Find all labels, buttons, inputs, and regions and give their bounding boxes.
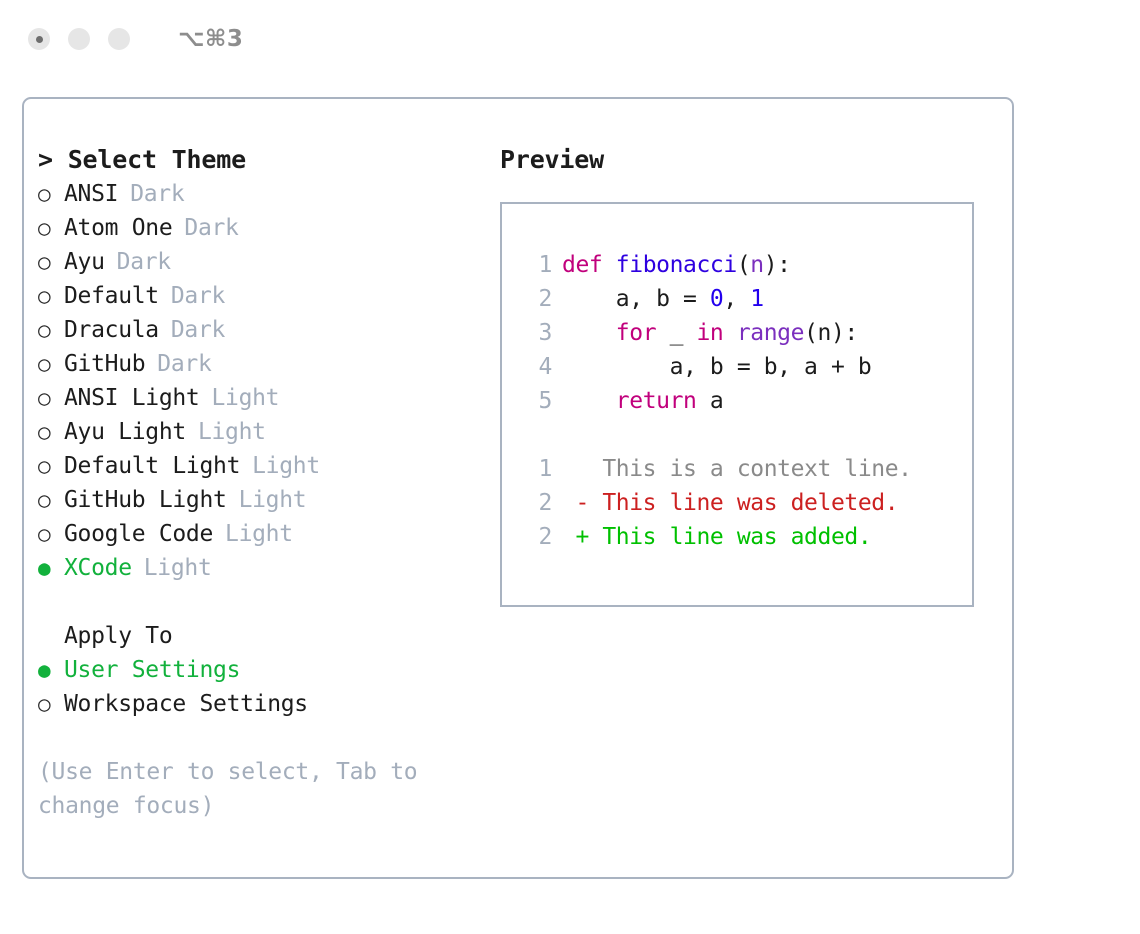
code-line: 4 a, b = b, a + b <box>518 350 972 384</box>
radio-unselected-icon: ○ <box>38 687 64 721</box>
code-token-plain <box>562 320 616 346</box>
code-token-plain: a, b = <box>562 286 710 312</box>
diff-line: 2 + This line was added. <box>518 520 972 554</box>
code-line-number: 4 <box>518 350 552 384</box>
theme-option-label: Ayu Light <box>64 415 186 449</box>
theme-option-kind: Dark <box>117 245 171 279</box>
window-dot-second-icon[interactable] <box>68 28 90 50</box>
theme-option-label: GitHub <box>64 347 145 381</box>
theme-option-kind: Light <box>144 551 212 585</box>
apply-to-list[interactable]: ●User Settings○Workspace Settings <box>38 653 488 721</box>
theme-option-label: ANSI Light <box>64 381 199 415</box>
preview-box: 1def fibonacci(n):2 a, b = 0, 13 for _ i… <box>500 202 974 607</box>
theme-list[interactable]: ○ANSIDark○Atom OneDark○AyuDark○DefaultDa… <box>38 177 488 585</box>
radio-unselected-icon: ○ <box>38 279 64 313</box>
theme-option-github[interactable]: ○GitHubDark <box>38 347 488 381</box>
theme-option-kind: Dark <box>157 347 211 381</box>
apply-to-title: Apply To <box>38 619 488 653</box>
radio-unselected-icon: ○ <box>38 483 64 517</box>
radio-unselected-icon: ○ <box>38 449 64 483</box>
window-dot-third-icon[interactable] <box>108 28 130 50</box>
radio-unselected-icon: ○ <box>38 177 64 211</box>
diff-line-number: 1 <box>518 452 552 486</box>
theme-picker-window: ⌥⌘3 > Select Theme ○ANSIDark○Atom OneDar… <box>0 0 1140 934</box>
code-token-plain: a, b = b, a + b <box>562 354 871 380</box>
keyboard-shortcut-label: ⌥⌘3 <box>178 26 243 52</box>
theme-option-ansi-light[interactable]: ○ANSI LightLight <box>38 381 488 415</box>
code-line-number: 2 <box>518 282 552 316</box>
diff-sample: 1 This is a context line.2 - This line w… <box>518 452 972 554</box>
theme-option-kind: Light <box>225 517 293 551</box>
theme-option-label: XCode <box>64 551 132 585</box>
diff-line-text: + This line was added. <box>562 520 871 554</box>
theme-option-label: Dracula <box>64 313 159 347</box>
code-token-plain: ): <box>764 252 791 278</box>
theme-selection-column: > Select Theme ○ANSIDark○Atom OneDark○Ay… <box>38 143 488 823</box>
select-theme-header: > Select Theme <box>38 143 488 177</box>
theme-option-google-code[interactable]: ○Google CodeLight <box>38 517 488 551</box>
radio-unselected-icon: ○ <box>38 381 64 415</box>
code-sample: 1def fibonacci(n):2 a, b = 0, 13 for _ i… <box>518 248 972 418</box>
code-token-kw: in <box>696 320 723 346</box>
theme-option-label: GitHub Light <box>64 483 227 517</box>
theme-option-label: Ayu <box>64 245 105 279</box>
diff-line: 2 - This line was deleted. <box>518 486 972 520</box>
theme-option-kind: Light <box>252 449 320 483</box>
code-token-var: n <box>750 252 763 278</box>
radio-unselected-icon: ○ <box>38 211 64 245</box>
radio-unselected-icon: ○ <box>38 245 64 279</box>
code-line-number: 1 <box>518 248 552 282</box>
theme-option-default[interactable]: ○DefaultDark <box>38 279 488 313</box>
code-token-plain: _ <box>656 320 696 346</box>
diff-line-number: 2 <box>518 520 552 554</box>
radio-selected-icon: ● <box>38 653 64 687</box>
apply-to-option-workspace-settings[interactable]: ○Workspace Settings <box>38 687 488 721</box>
code-line-number: 5 <box>518 384 552 418</box>
diff-line: 1 This is a context line. <box>518 452 972 486</box>
code-line-text: a, b = 0, 1 <box>562 282 764 316</box>
radio-selected-icon: ● <box>38 551 64 585</box>
code-token-num: 0 <box>710 286 723 312</box>
theme-option-ansi[interactable]: ○ANSIDark <box>38 177 488 211</box>
code-token-plain <box>723 320 736 346</box>
theme-option-label: ANSI <box>64 177 118 211</box>
window-controls <box>28 28 130 50</box>
code-token-kw: def <box>562 252 616 278</box>
theme-option-xcode[interactable]: ●XCodeLight <box>38 551 488 585</box>
theme-option-kind: Dark <box>184 211 238 245</box>
theme-option-label: Default <box>64 279 159 313</box>
code-line-text: a, b = b, a + b <box>562 350 871 384</box>
radio-unselected-icon: ○ <box>38 313 64 347</box>
code-line-text: for _ in range(n): <box>562 316 858 350</box>
code-token-kw: return <box>616 388 697 414</box>
theme-option-kind: Light <box>239 483 307 517</box>
theme-option-label: Google Code <box>64 517 213 551</box>
code-line: 5 return a <box>518 384 972 418</box>
theme-option-dracula[interactable]: ○DraculaDark <box>38 313 488 347</box>
theme-option-github-light[interactable]: ○GitHub LightLight <box>38 483 488 517</box>
code-token-fn: fibonacci <box>616 252 737 278</box>
code-line: 1def fibonacci(n): <box>518 248 972 282</box>
theme-option-ayu[interactable]: ○AyuDark <box>38 245 488 279</box>
window-dot-active-icon[interactable] <box>28 28 50 50</box>
radio-unselected-icon: ○ <box>38 347 64 381</box>
keyboard-hint-text: (Use Enter to select, Tab to change focu… <box>38 755 448 823</box>
radio-unselected-icon: ○ <box>38 415 64 449</box>
main-panel: > Select Theme ○ANSIDark○Atom OneDark○Ay… <box>22 97 1014 879</box>
code-line-text: return a <box>562 384 723 418</box>
preview-column: Preview 1def fibonacci(n):2 a, b = 0, 13… <box>500 143 1000 607</box>
theme-option-kind: Light <box>198 415 266 449</box>
theme-option-kind: Dark <box>171 279 225 313</box>
code-token-num: 1 <box>750 286 763 312</box>
theme-option-kind: Dark <box>130 177 184 211</box>
theme-option-ayu-light[interactable]: ○Ayu LightLight <box>38 415 488 449</box>
code-token-plain <box>562 388 616 414</box>
diff-line-text: This is a context line. <box>562 452 912 486</box>
theme-option-label: Atom One <box>64 211 172 245</box>
code-line-number: 3 <box>518 316 552 350</box>
window-dot-inner <box>36 36 43 43</box>
code-token-plain: a <box>696 388 723 414</box>
code-token-kw: for <box>616 320 656 346</box>
apply-to-option-user-settings[interactable]: ●User Settings <box>38 653 488 687</box>
code-token-plain: , <box>723 286 750 312</box>
code-line-text: def fibonacci(n): <box>562 248 791 282</box>
apply-to-option-label: Workspace Settings <box>64 687 308 721</box>
code-token-call: range <box>737 320 804 346</box>
code-line: 3 for _ in range(n): <box>518 316 972 350</box>
diff-line-text: - This line was deleted. <box>562 486 898 520</box>
theme-option-kind: Dark <box>171 313 225 347</box>
apply-to-option-label: User Settings <box>64 653 240 687</box>
window-titlebar: ⌥⌘3 <box>0 0 1140 78</box>
theme-option-default-light[interactable]: ○Default LightLight <box>38 449 488 483</box>
preview-title: Preview <box>500 143 1000 177</box>
code-token-plain: (n): <box>804 320 858 346</box>
code-token-plain: ( <box>737 252 750 278</box>
diff-line-number: 2 <box>518 486 552 520</box>
code-line: 2 a, b = 0, 1 <box>518 282 972 316</box>
theme-option-kind: Light <box>211 381 279 415</box>
theme-option-label: Default Light <box>64 449 240 483</box>
theme-option-atom-one[interactable]: ○Atom OneDark <box>38 211 488 245</box>
radio-unselected-icon: ○ <box>38 517 64 551</box>
